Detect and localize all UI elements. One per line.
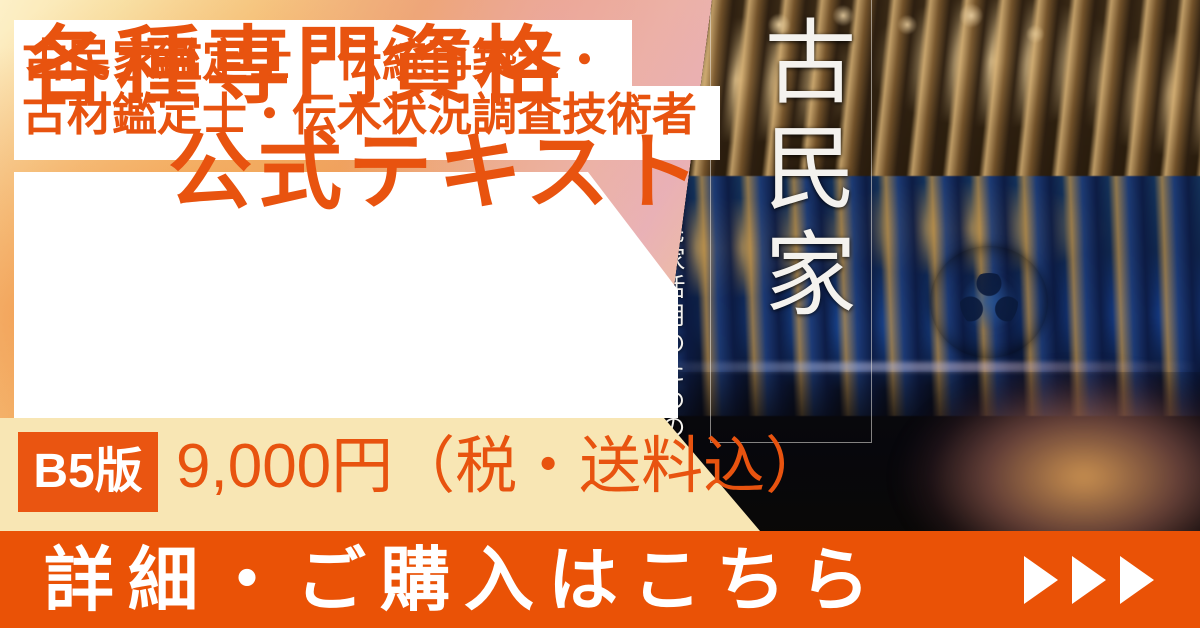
cta-arrow-group (1024, 556, 1154, 604)
photo-warm-glow (840, 326, 1200, 546)
main-title-line-2: 公式テキスト (168, 130, 705, 214)
cover-title: 古民家 (736, 14, 869, 332)
format-badge-label: B5版 (33, 448, 142, 496)
chevron-right-icon (1024, 556, 1058, 604)
chevron-right-icon (1120, 556, 1154, 604)
main-title-line-1: 各種専門資格 (26, 24, 566, 108)
format-badge: B5版 (18, 432, 158, 512)
promo-banner: 伝統構法 古民家活用のための調査と再生の 古民家 古民家鑑定士・伝統再築士・ 古… (0, 0, 1200, 628)
cta-label: 詳細・ご購入はこちら (44, 545, 884, 615)
cta-bar[interactable]: 詳細・ご購入はこちら (0, 531, 1200, 628)
crest-inner-pattern (960, 273, 1018, 331)
price-label: 9,000円（税・送料込） (176, 436, 827, 498)
chevron-right-icon (1072, 556, 1106, 604)
